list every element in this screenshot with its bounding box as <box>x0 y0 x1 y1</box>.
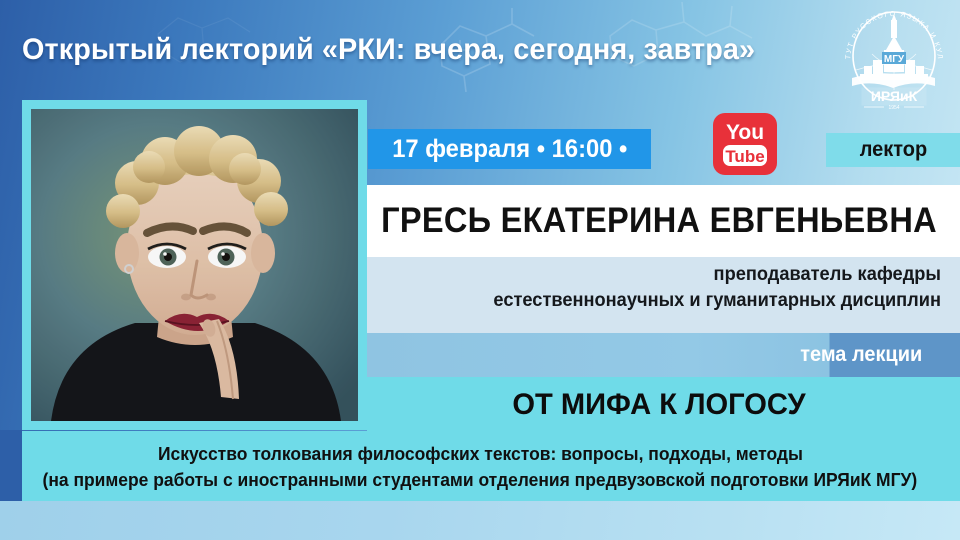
date-time-text: 17 февраля • 16:00 • <box>392 135 627 164</box>
iryaik-msu-logo: ИНСТИТУТ РУССКОГО ЯЗЫКА И КУЛЬТУРЫ <box>840 6 948 110</box>
youtube-word-bottom: Tube <box>725 147 764 166</box>
speaker-photo-frame <box>22 100 367 430</box>
speaker-photo <box>31 109 358 421</box>
left-edge-strip-bottom <box>0 430 22 501</box>
poster-title: Открытый лекторий «РКИ: вчера, сегодня, … <box>22 33 755 67</box>
topic-label-text: тема лекции <box>800 343 922 367</box>
youtube-icon[interactable]: You Tube <box>713 113 777 175</box>
topic-label-badge: тема лекции <box>762 338 960 372</box>
description-line-1: Искусство толкования философских текстов… <box>158 441 803 467</box>
description-line-2: (на примере работы с иностранными студен… <box>43 467 918 493</box>
lecture-poster: Открытый лекторий «РКИ: вчера, сегодня, … <box>0 0 960 540</box>
poster-header: Открытый лекторий «РКИ: вчера, сегодня, … <box>0 0 960 100</box>
logo-acronym: ИРЯиК <box>871 88 918 104</box>
position-line-2: естественнонаучных и гуманитарных дисцип… <box>390 288 941 314</box>
speaker-name: ГРЕСЬ ЕКАТЕРИНА ЕВГЕНЬЕВНА <box>387 188 930 254</box>
lector-badge: лектор <box>826 133 960 167</box>
lecture-title: ОТ МИФА К ЛОГОСУ <box>376 385 942 425</box>
bottom-edge-strip <box>0 501 960 540</box>
position-line-1: преподаватель кафедры <box>390 262 941 288</box>
speaker-position: преподаватель кафедры естественнонаучных… <box>367 262 951 314</box>
youtube-word-top: You <box>726 121 764 144</box>
logo-building-label: МГУ <box>884 54 905 65</box>
lector-label: лектор <box>859 138 926 162</box>
date-time-badge: 17 февраля • 16:00 • <box>368 129 651 169</box>
logo-year: 1954 <box>888 105 899 110</box>
description-text: Искусство толкования философских текстов… <box>0 431 960 501</box>
